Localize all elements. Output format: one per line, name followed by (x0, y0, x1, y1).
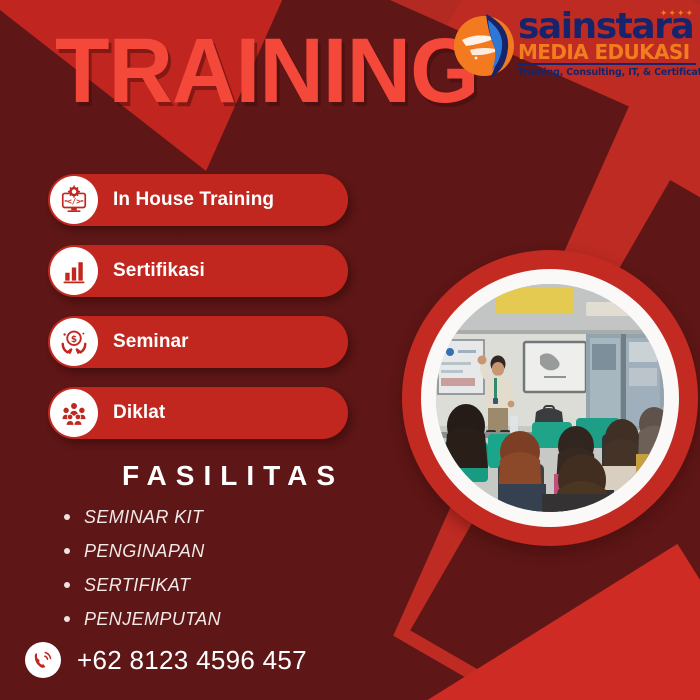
contact-row[interactable]: +62 8123 4596 457 (25, 642, 307, 678)
bullet-icon (64, 616, 70, 622)
photo-ring-white (421, 269, 679, 527)
facilities-heading: FASILITAS (122, 460, 344, 492)
bullet-icon (64, 514, 70, 520)
list-item: SEMINAR KIT (58, 500, 358, 534)
people-group-icon (50, 389, 98, 437)
service-pill-label: In House Training (113, 189, 274, 211)
service-pill-label: Diklat (113, 402, 165, 424)
monitor-code-gear-icon: </> (50, 176, 98, 224)
brand-logo: ✦✦✦✦ sainstara MEDIA EDUKASI Training, C… (452, 6, 694, 90)
brand-logo-text: ✦✦✦✦ sainstara MEDIA EDUKASI Training, C… (518, 10, 696, 78)
service-pill-label: Sertifikasi (113, 260, 205, 282)
training-poster: TRAINING ✦✦✦✦ sainstara MEDIA EDUKASI Tr… (0, 0, 700, 700)
list-item: PENJEMPUTAN (58, 602, 358, 636)
logo-subtitle: MEDIA EDUKASI (518, 42, 696, 62)
training-classroom-photo (436, 284, 664, 512)
facility-label: PENGINAPAN (84, 541, 205, 562)
service-pill-diklat[interactable]: Diklat (48, 387, 348, 439)
facility-label: SERTIFIKAT (84, 575, 190, 596)
phone-number: +62 8123 4596 457 (77, 645, 307, 676)
logo-stars: ✦✦✦✦ (660, 8, 694, 19)
svg-text:</>: </> (67, 197, 81, 206)
facilities-list: SEMINAR KIT PENGINAPAN SERTIFIKAT PENJEM… (58, 500, 358, 636)
facility-label: PENJEMPUTAN (84, 609, 221, 630)
phone-ringing-icon (25, 642, 61, 678)
svg-text:$: $ (71, 335, 77, 345)
logo-tagline: Training, Consulting, IT, & Certificatio… (518, 67, 696, 78)
bar-chart-icon (50, 247, 98, 295)
hands-money-award-icon: $ (50, 318, 98, 366)
service-pill-label: Seminar (113, 331, 189, 353)
list-item: SERTIFIKAT (58, 568, 358, 602)
photo-ring-outer (402, 250, 698, 546)
service-pill-in-house-training[interactable]: </> In House Training (48, 174, 348, 226)
flame-archipelago-icon (452, 10, 524, 82)
facility-label: SEMINAR KIT (84, 507, 203, 528)
service-pill-seminar[interactable]: $ Seminar (48, 316, 348, 368)
bullet-icon (64, 548, 70, 554)
page-title: TRAINING (55, 28, 479, 115)
list-item: PENGINAPAN (58, 534, 358, 568)
service-pill-sertifikasi[interactable]: Sertifikasi (48, 245, 348, 297)
bullet-icon (64, 582, 70, 588)
